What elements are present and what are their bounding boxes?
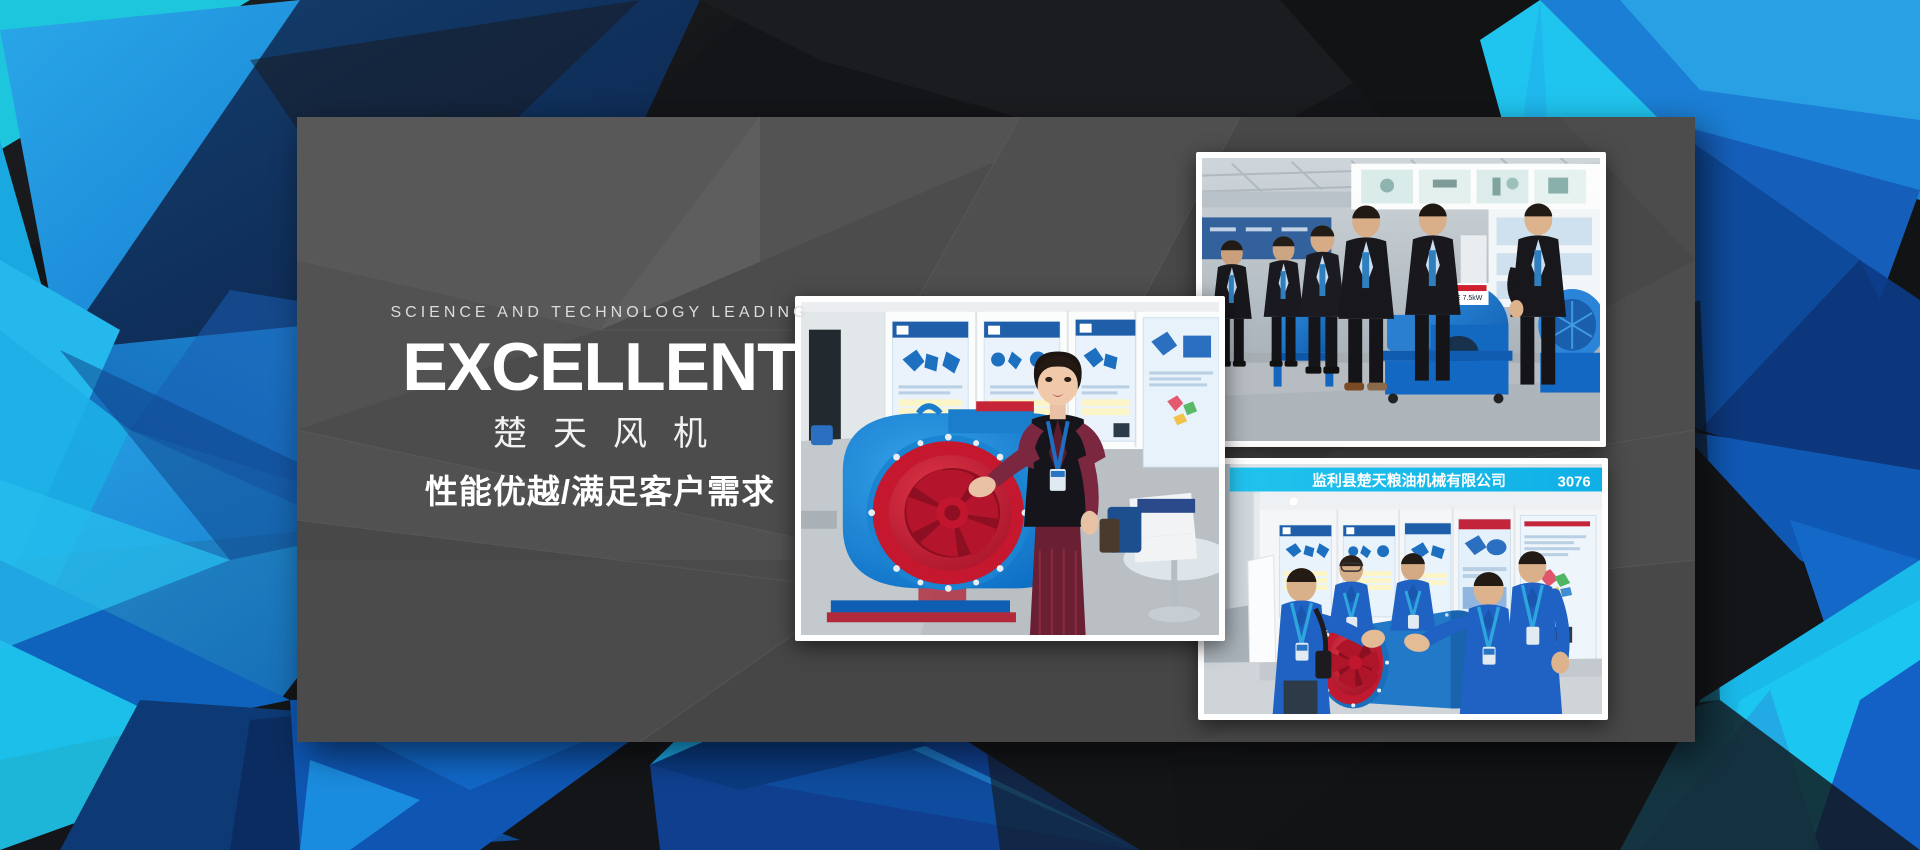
woman-presenting-blue-centrifugal-fan-image <box>801 302 1219 635</box>
booth-number-text: 3076 <box>1558 474 1591 491</box>
headline-block: SCIENCE AND TECHNOLOGY LEADING EXCELLENT… <box>390 305 810 508</box>
booth-sign-text: 监利县楚天粮油机械有限公司 <box>1312 472 1506 490</box>
booth-poster <box>1076 320 1136 441</box>
tagline: SCIENCE AND TECHNOLOGY LEADING <box>390 305 810 321</box>
brand-name-cn: 楚天风机 <box>390 417 810 451</box>
photo-top-right: CE 7.5kW <box>1196 152 1606 447</box>
photo-bottom-right: 监利县楚天粮油机械有限公司 3076 <box>1198 458 1608 720</box>
booth-poster <box>1143 318 1219 467</box>
banner-root: SCIENCE AND TECHNOLOGY LEADING EXCELLENT… <box>0 0 1920 850</box>
photo-center <box>795 296 1225 641</box>
sales-team-with-blue-fans-image: CE 7.5kW <box>1202 158 1600 441</box>
staff-team-blue-uniform-with-fan-image: 监利县楚天粮油机械有限公司 3076 <box>1204 464 1602 714</box>
page-title: EXCELLENT <box>390 333 810 401</box>
slogan: 性能优越/满足客户需求 <box>390 475 810 508</box>
